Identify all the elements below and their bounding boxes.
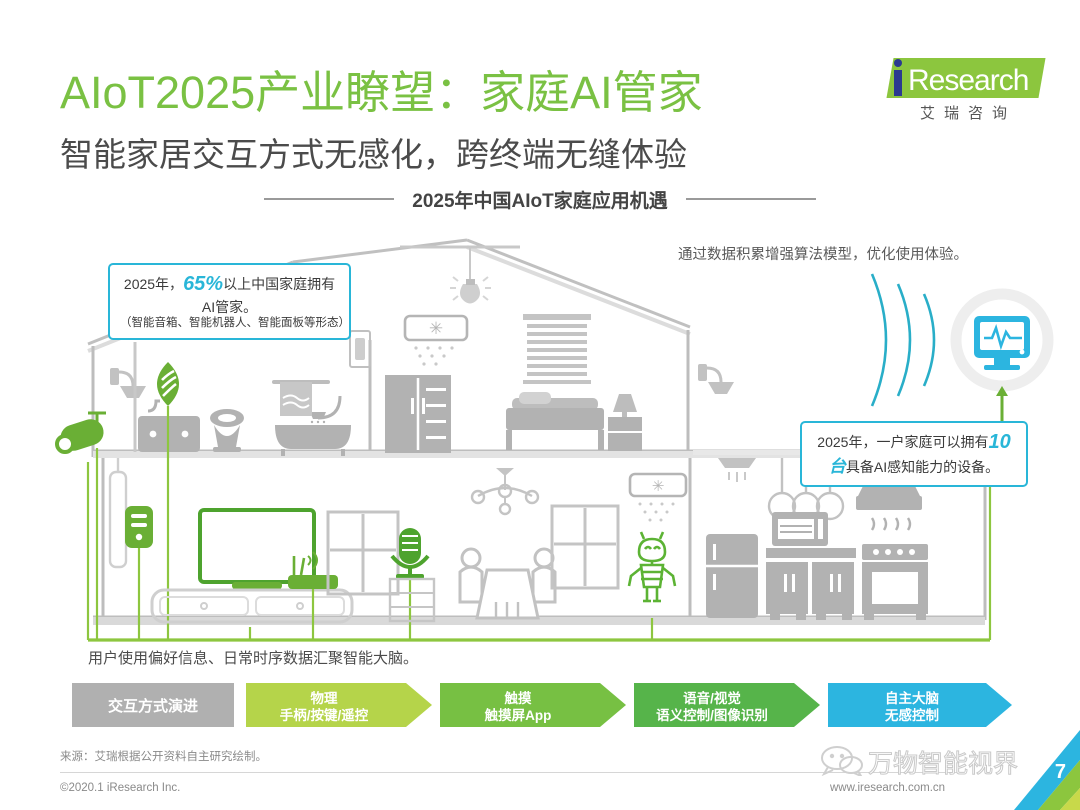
chevron-label-1b: 手柄/按键/遥控 [280, 707, 369, 723]
wardrobe [385, 375, 451, 453]
heading-rule-left [264, 198, 394, 200]
note-top-right: 通过数据积累增强算法模型，优化使用体验。 [678, 243, 968, 264]
slide-page: AIoT2025产业瞭望：家庭AI管家 智能家居交互方式无感化，跨终端无缝体验 … [0, 0, 1080, 810]
chevron-svg: 交互方式演进 物理 手柄/按键/遥控 触摸 触摸屏App 语音/视觉 语义控制/… [72, 683, 1012, 727]
ai-monitor-icon [974, 316, 1030, 370]
microwave-oven [772, 512, 828, 546]
callout-right-line1: 2025年，一户家庭可以拥有10 [812, 429, 1016, 456]
kitchen-counter [766, 548, 856, 620]
svg-text:✳: ✳ [429, 319, 443, 339]
callout-left: 2025年，65%以上中国家庭拥有 AI管家。 （智能音箱、智能机器人、智能面板… [108, 263, 351, 340]
interaction-evolution-bar: 交互方式演进 物理 手柄/按键/遥控 触摸 触摸屏App 语音/视觉 语义控制/… [72, 683, 1012, 727]
chevron-step-3[interactable]: 语音/视觉 语义控制/图像识别 [634, 683, 820, 727]
tower-speaker [110, 458, 126, 567]
nightstand-lamp [608, 394, 642, 451]
callout-left-line3: （智能音箱、智能机器人、智能面板等形态） [120, 316, 339, 331]
window-blinds [523, 314, 591, 384]
refrigerator [706, 534, 758, 618]
logo-wordmark: Research [908, 64, 1028, 98]
bed [506, 392, 604, 450]
chevron-label-1a: 物理 [311, 690, 338, 706]
page-subtitle: 智能家居交互方式无感化，跨终端无缝体验 [60, 128, 687, 176]
svg-text:✳: ✳ [652, 477, 665, 495]
chevron-step-1[interactable]: 物理 手柄/按键/遥控 [246, 683, 432, 727]
logo-i-stem [894, 70, 902, 96]
stove [862, 544, 928, 620]
air-conditioner-bedroom: ✳ [405, 316, 467, 366]
toilet [210, 409, 244, 452]
wall-switch-panel [350, 331, 370, 367]
chandelier [472, 468, 538, 514]
page-title: AIoT2025产业瞭望：家庭AI管家 [60, 56, 703, 121]
wechat-icon [820, 746, 864, 776]
callout-right-line2: 台具备AI感知能力的设备。 [812, 456, 1016, 478]
logo-i-dot [894, 59, 902, 67]
callout-left-line1: 2025年，65%以上中国家庭拥有 [120, 271, 339, 298]
wall-lamp-bathroom [110, 368, 146, 398]
source-note: 来源：艾瑞根据公开资料自主研究绘制。 [60, 748, 267, 764]
callout-left-line2: AI管家。 [120, 298, 339, 316]
security-camera-icon [57, 413, 107, 640]
website-url: www.iresearch.com.cn [830, 782, 945, 794]
dining-table-scene [460, 549, 555, 618]
chevron-step-4[interactable]: 自主大脑 无感控制 [828, 683, 1012, 727]
ai-brain-node [872, 274, 1048, 422]
page-number: 7 [1055, 761, 1066, 784]
chevron-label-4a: 自主大脑 [885, 690, 939, 706]
uplink-arrow [996, 386, 1008, 422]
towel-rack [272, 380, 330, 416]
chevron-step-2[interactable]: 触摸 触摸屏App [440, 683, 626, 727]
note-bottom-left: 用户使用偏好信息、日常时序数据汇聚智能大脑。 [88, 647, 418, 668]
chevron-step-0[interactable]: 交互方式演进 [72, 683, 234, 727]
callout-right: 2025年，一户家庭可以拥有10 台具备AI感知能力的设备。 [800, 421, 1028, 487]
section-heading-text: 2025年中国AIoT家庭应用机遇 [412, 186, 667, 213]
logo-chinese-name: 艾瑞咨询 [898, 102, 1038, 123]
smoke-detector [718, 458, 756, 482]
chevron-label-2a: 触摸 [505, 690, 533, 706]
chevron-label-0a: 交互方式演进 [108, 697, 198, 715]
heading-rule-right [686, 198, 816, 200]
chevron-label-3a: 语音/视觉 [683, 690, 741, 706]
air-conditioner-living: ✳ [630, 474, 686, 522]
chevron-label-3b: 语义控制/图像识别 [656, 707, 768, 723]
section-heading: 2025年中国AIoT家庭应用机遇 [60, 186, 1020, 212]
chevron-label-4b: 无感控制 [884, 707, 939, 723]
iresearch-logo: Research 艾瑞咨询 [876, 54, 1046, 130]
window-living-room [328, 512, 398, 594]
wall-lamp-bedroom-right [698, 364, 734, 394]
wifi-signal-arcs [872, 274, 934, 406]
copyright-text: ©2020.1 iResearch Inc. [60, 782, 180, 794]
window-dining [552, 506, 618, 588]
chevron-label-2b: 触摸屏App [485, 707, 552, 723]
